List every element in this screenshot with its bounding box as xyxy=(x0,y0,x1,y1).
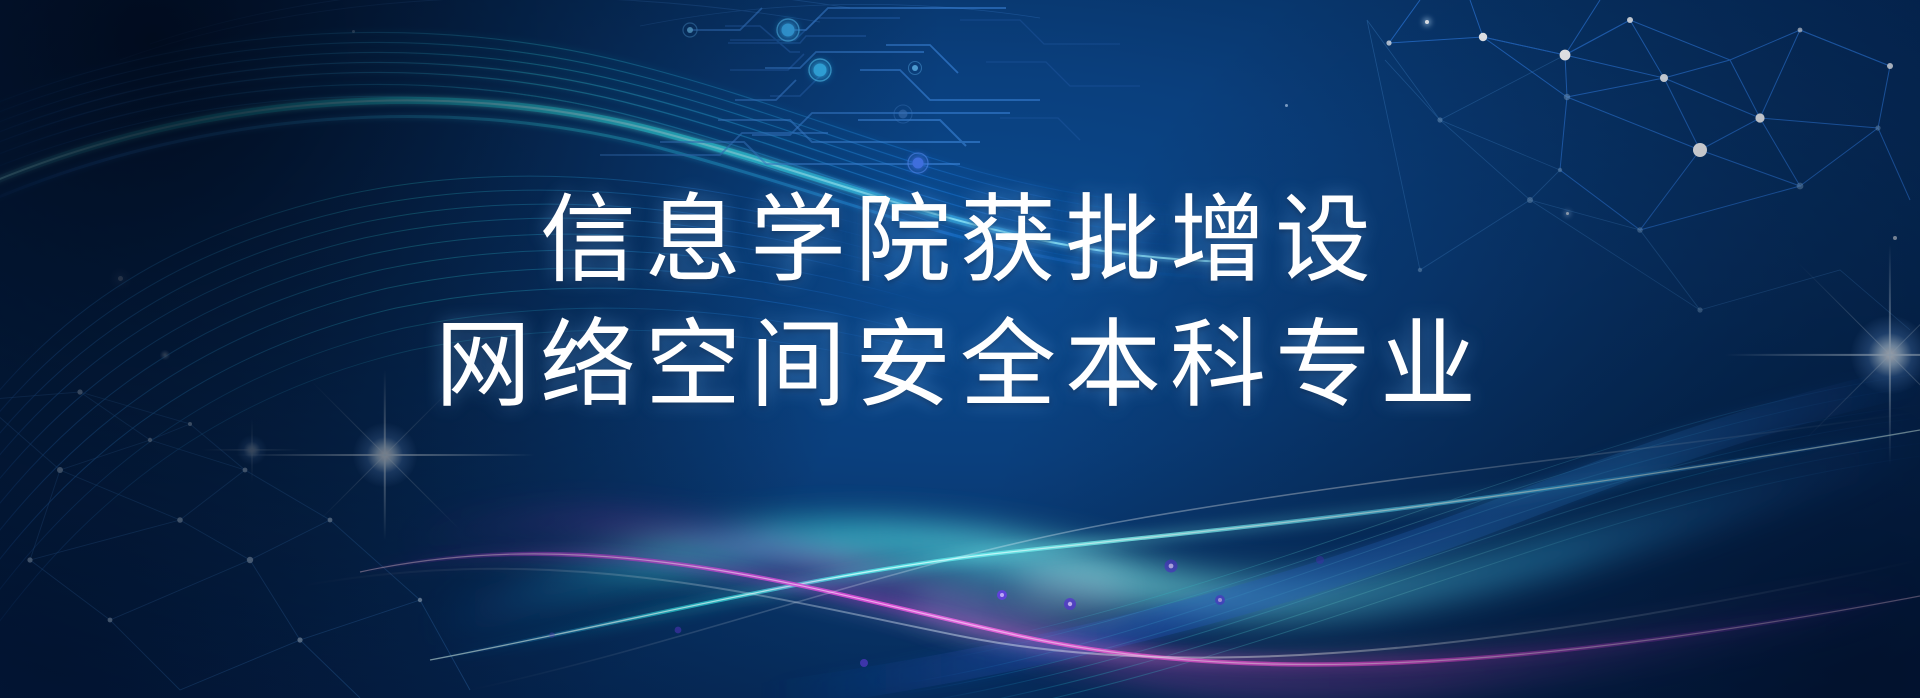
headline-line-2: 网络空间安全本科专业 xyxy=(0,303,1920,428)
headline-line-1: 信息学院获批增设 xyxy=(0,178,1920,303)
banner-headline: 信息学院获批增设 网络空间安全本科专业 xyxy=(0,178,1920,428)
announcement-banner: 信息学院获批增设 网络空间安全本科专业 xyxy=(0,0,1920,698)
